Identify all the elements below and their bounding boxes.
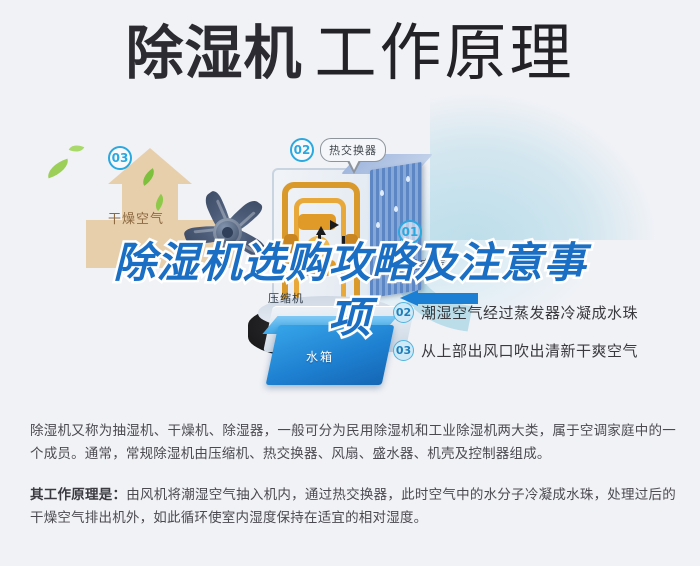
water-droplet-icon	[380, 190, 384, 196]
legend-text: 潮湿空气经过蒸发器冷凝成水珠	[421, 302, 638, 323]
water-droplet-icon	[394, 206, 398, 212]
article-body: 除湿机又称为抽湿机、干燥机、除湿器，一般可分为民用除湿机和工业除湿机两大类，属于…	[30, 420, 676, 530]
dry-air-label: 干燥空气	[108, 208, 164, 227]
paragraph-2-label: 其工作原理是：	[30, 487, 126, 503]
flow-arrow-stem	[342, 236, 345, 251]
flow-arrow-right-icon	[330, 220, 339, 230]
paragraph-1: 除湿机又称为抽湿机、干燥机、除湿器，一般可分为民用除湿机和工业除湿机两大类，属于…	[30, 420, 676, 466]
badge-01: 01	[398, 220, 422, 244]
coil-segment	[284, 234, 298, 264]
coil-segment	[344, 234, 358, 264]
paragraph-2: 其工作原理是：由风机将潮湿空气抽入机内，通过热交换器，此时空气中的水分子冷凝成水…	[30, 484, 676, 530]
callout-tail-icon	[347, 161, 361, 174]
legend-badge: 03	[393, 340, 414, 361]
flow-arrow-down-icon	[340, 250, 350, 259]
page-title: 除湿机工作原理	[0, 22, 700, 84]
coil-segment	[298, 260, 336, 276]
fan-icon	[175, 180, 280, 285]
legend-text: 从上部出风口吹出清新干爽空气	[421, 340, 638, 361]
legend-badge: 02	[393, 302, 414, 323]
heat-exchanger-callout-text: 热交换器	[329, 144, 377, 157]
list-item: 03 从上部出风口吹出清新干爽空气	[393, 331, 693, 369]
water-tank-label: 水箱	[306, 348, 334, 365]
badge-02: 02	[290, 138, 314, 162]
flow-arrow-up-icon	[316, 226, 326, 235]
legend-list: 01 风机将潮湿空气抽入机内 02 潮湿空气经过蒸发器冷凝成水珠 03 从上部出…	[393, 255, 693, 369]
flow-arrow-stem	[318, 234, 321, 250]
infographic-page: 除湿机工作原理 干燥空气	[0, 0, 700, 566]
paragraph-2-text: 由风机将潮湿空气抽入机内，通过热交换器，此时空气中的水分子冷凝成水珠，处理过后的…	[30, 487, 676, 526]
badge-03: 03	[108, 146, 132, 170]
water-droplet-icon	[376, 222, 380, 228]
heat-exchanger-callout: 热交换器	[320, 138, 386, 162]
water-droplet-icon	[406, 176, 410, 182]
compressor-label: 压缩机	[268, 290, 304, 306]
page-title-light: 工作原理	[315, 16, 575, 89]
page-title-bold: 除湿机	[125, 19, 302, 87]
water-droplet-icon	[386, 260, 390, 266]
leaf-icon	[45, 159, 72, 179]
list-item: 02 潮湿空气经过蒸发器冷凝成水珠	[393, 293, 693, 331]
leaf-icon	[69, 142, 85, 156]
